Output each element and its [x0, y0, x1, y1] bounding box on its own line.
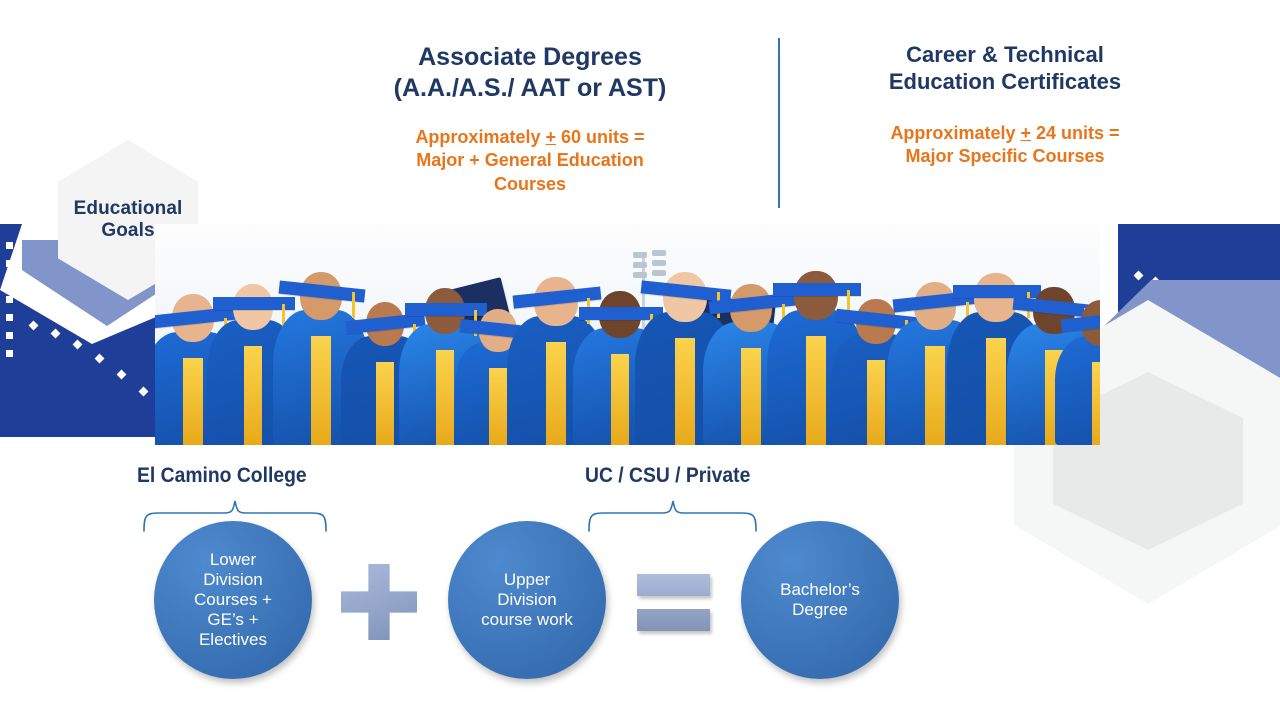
stadium-light	[633, 272, 647, 278]
graduation-stole	[244, 346, 262, 445]
decorative-dot	[6, 350, 13, 357]
equals-operator-icon-bottom	[637, 609, 710, 631]
text-line: Electives	[194, 630, 272, 650]
graduation-stole	[489, 368, 506, 445]
career-technical-title-line2: Education Certificates	[840, 69, 1170, 96]
career-technical-title: Career & Technical Education Certificate…	[840, 42, 1170, 96]
career-technical-units: Approximately + 24 units = Major Specifi…	[845, 122, 1165, 169]
stadium-light	[652, 260, 666, 266]
text-line: Degree	[780, 600, 860, 620]
graduation-stole	[376, 362, 394, 445]
group-label-uc-csu-private: UC / CSU / Private	[585, 464, 750, 488]
text-line: Bachelor’s	[780, 580, 860, 600]
brace-uc-csu-private	[585, 498, 760, 532]
graduation-stole	[867, 360, 885, 445]
plus-minus-symbol: +	[1020, 123, 1031, 143]
associate-degrees-units-line2: Major + General Education	[350, 149, 710, 172]
stadium-light	[652, 250, 666, 256]
text-line: course work	[481, 610, 573, 630]
career-technical-units-line2: Major Specific Courses	[845, 145, 1165, 168]
associate-degrees-units-line1: Approximately + 60 units =	[350, 126, 710, 149]
career-technical-units-line1: Approximately + 24 units =	[845, 122, 1165, 145]
associate-degrees-title-line2: (A.A./A.S./ AAT or AST)	[330, 73, 730, 104]
decorative-dot	[6, 332, 13, 339]
plus-minus-symbol: +	[545, 127, 556, 147]
group-label-el-camino-college: El Camino College	[137, 464, 307, 488]
graduation-stole	[1092, 362, 1100, 445]
text-line: Lower	[194, 550, 272, 570]
decorative-dot	[6, 278, 13, 285]
associate-degrees-title-line1: Associate Degrees	[330, 42, 730, 73]
text-line: Courses +	[194, 590, 272, 610]
decorative-dot	[6, 242, 13, 249]
graduates-photo: Graduating students in blue caps and gow…	[155, 224, 1100, 445]
associate-degrees-units: Approximately + 60 units = Major + Gener…	[350, 126, 710, 196]
stadium-light	[633, 262, 647, 268]
graduate	[1055, 336, 1100, 445]
graduation-stole	[311, 336, 330, 445]
stadium-light	[633, 252, 647, 258]
graduation-stole	[925, 346, 944, 445]
pathway-node-bachelors-degree-label: Bachelor’sDegree	[780, 580, 860, 620]
pathway-node-lower-division-label: LowerDivisionCourses +GE’s +Electives	[194, 550, 272, 650]
career-technical-title-line1: Career & Technical	[840, 42, 1170, 69]
graduation-stole	[675, 338, 695, 445]
text-line: Educational	[74, 198, 183, 220]
text-line: Division	[481, 590, 573, 610]
graduation-stole	[806, 336, 826, 445]
graduation-stole	[183, 358, 202, 445]
slide-canvas: EducationalGoals Graduating students in …	[0, 0, 1280, 720]
text-line: Division	[194, 570, 272, 590]
plus-operator-icon	[341, 564, 417, 640]
pathway-node-lower-division[interactable]: LowerDivisionCourses +GE’s +Electives	[154, 521, 312, 679]
graduation-tassel	[352, 292, 355, 318]
decorative-dot	[6, 260, 13, 267]
pathway-node-upper-division-label: UpperDivisioncourse work	[481, 570, 573, 630]
pathway-node-bachelors-degree[interactable]: Bachelor’sDegree	[741, 521, 899, 679]
decorative-dot	[6, 314, 13, 321]
associate-degrees-units-line3: Courses	[350, 173, 710, 196]
text-line: Upper	[481, 570, 573, 590]
column-divider	[778, 38, 780, 208]
pathway-node-upper-division[interactable]: UpperDivisioncourse work	[448, 521, 606, 679]
graduation-stole	[546, 342, 566, 445]
graduation-stole	[741, 348, 760, 445]
graduation-stole	[436, 350, 454, 445]
stadium-light	[652, 270, 666, 276]
text-line: GE’s +	[194, 610, 272, 630]
associate-degrees-title: Associate Degrees (A.A./A.S./ AAT or AST…	[330, 42, 730, 103]
decorative-dot	[6, 296, 13, 303]
graduation-stole	[986, 338, 1006, 445]
graduation-stole	[611, 354, 630, 445]
equals-operator-icon-top	[637, 574, 710, 596]
